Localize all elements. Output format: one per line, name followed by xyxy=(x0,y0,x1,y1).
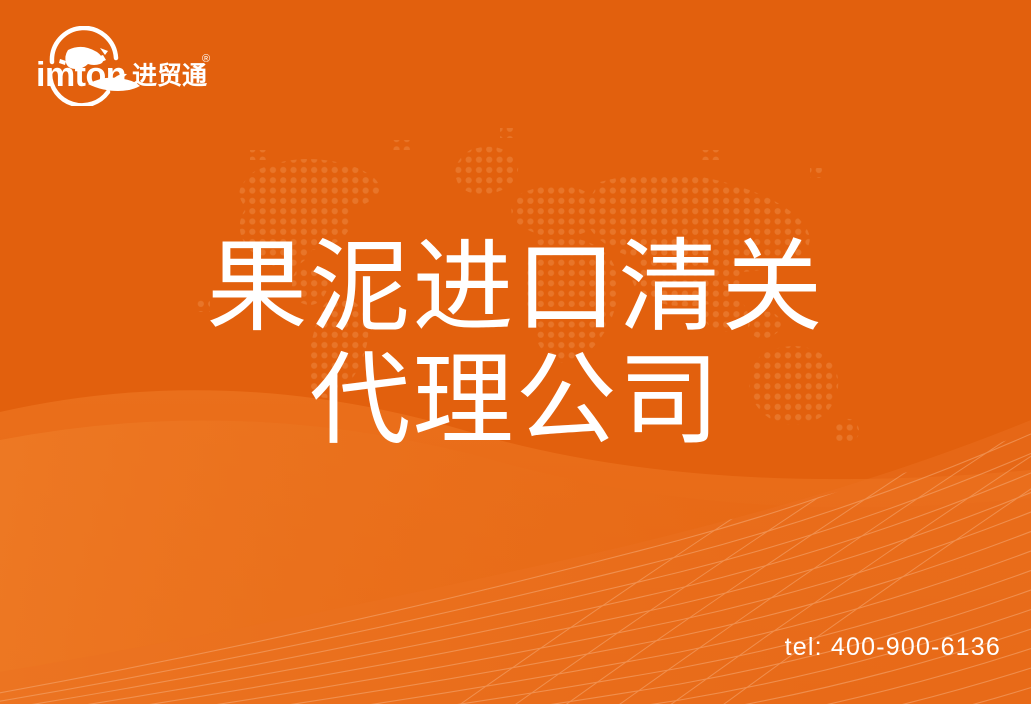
contact-telephone[interactable]: tel: 400-900-6136 xyxy=(785,633,1001,662)
headline-line-1: 果泥进口清关 xyxy=(0,232,1031,345)
logo-wordmark: imton xyxy=(36,56,126,94)
headline-title: 果泥进口清关 代理公司 xyxy=(0,232,1031,458)
brand-logo[interactable]: imton 进贸通 ® xyxy=(30,26,220,106)
promotional-banner: imton 进贸通 ® 果泥进口清关 代理公司 tel: 400-900-613… xyxy=(0,0,1031,704)
headline-line-2: 代理公司 xyxy=(0,345,1031,458)
registered-mark: ® xyxy=(202,53,210,65)
logo-chinese-text: 进贸通 xyxy=(132,61,207,90)
